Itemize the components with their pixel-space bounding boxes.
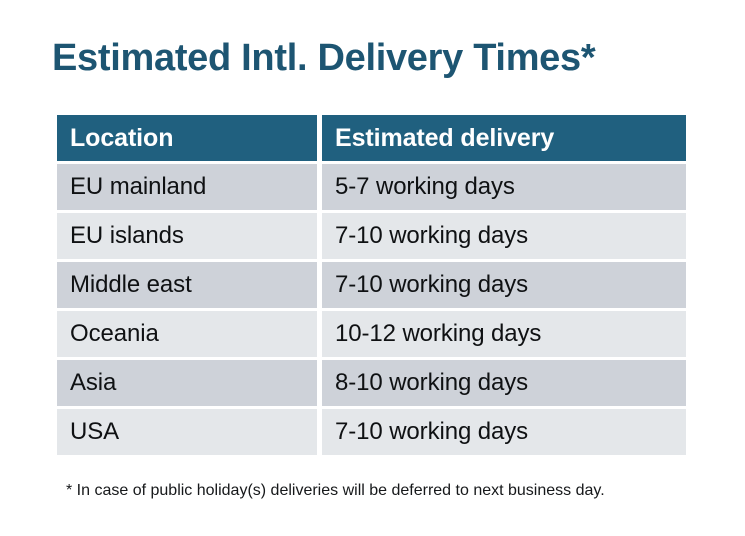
cell-location: EU mainland [57, 164, 317, 210]
cell-location: EU islands [57, 213, 317, 259]
table-row: EU islands 7-10 working days [57, 213, 686, 259]
cell-estimated: 7-10 working days [322, 409, 686, 455]
cell-estimated: 10-12 working days [322, 311, 686, 357]
column-header-location: Location [57, 115, 317, 161]
page-title: Estimated Intl. Delivery Times* [52, 36, 595, 80]
column-header-estimated-delivery: Estimated delivery [322, 115, 686, 161]
cell-estimated: 8-10 working days [322, 360, 686, 406]
table-header-row: Location Estimated delivery [57, 115, 686, 161]
table-row: Asia 8-10 working days [57, 360, 686, 406]
footnote-text: * In case of public holiday(s) deliverie… [66, 480, 605, 502]
delivery-times-table: Location Estimated delivery EU mainland … [52, 112, 691, 458]
cell-location: Middle east [57, 262, 317, 308]
cell-location: USA [57, 409, 317, 455]
table-row: EU mainland 5-7 working days [57, 164, 686, 210]
delivery-times-page: Estimated Intl. Delivery Times* Location… [0, 0, 745, 536]
cell-estimated: 5-7 working days [322, 164, 686, 210]
table-header: Location Estimated delivery [57, 115, 686, 161]
table-row: Middle east 7-10 working days [57, 262, 686, 308]
cell-location: Oceania [57, 311, 317, 357]
cell-estimated: 7-10 working days [322, 262, 686, 308]
table-body: EU mainland 5-7 working days EU islands … [57, 164, 686, 455]
cell-estimated: 7-10 working days [322, 213, 686, 259]
table-row: USA 7-10 working days [57, 409, 686, 455]
cell-location: Asia [57, 360, 317, 406]
table-row: Oceania 10-12 working days [57, 311, 686, 357]
